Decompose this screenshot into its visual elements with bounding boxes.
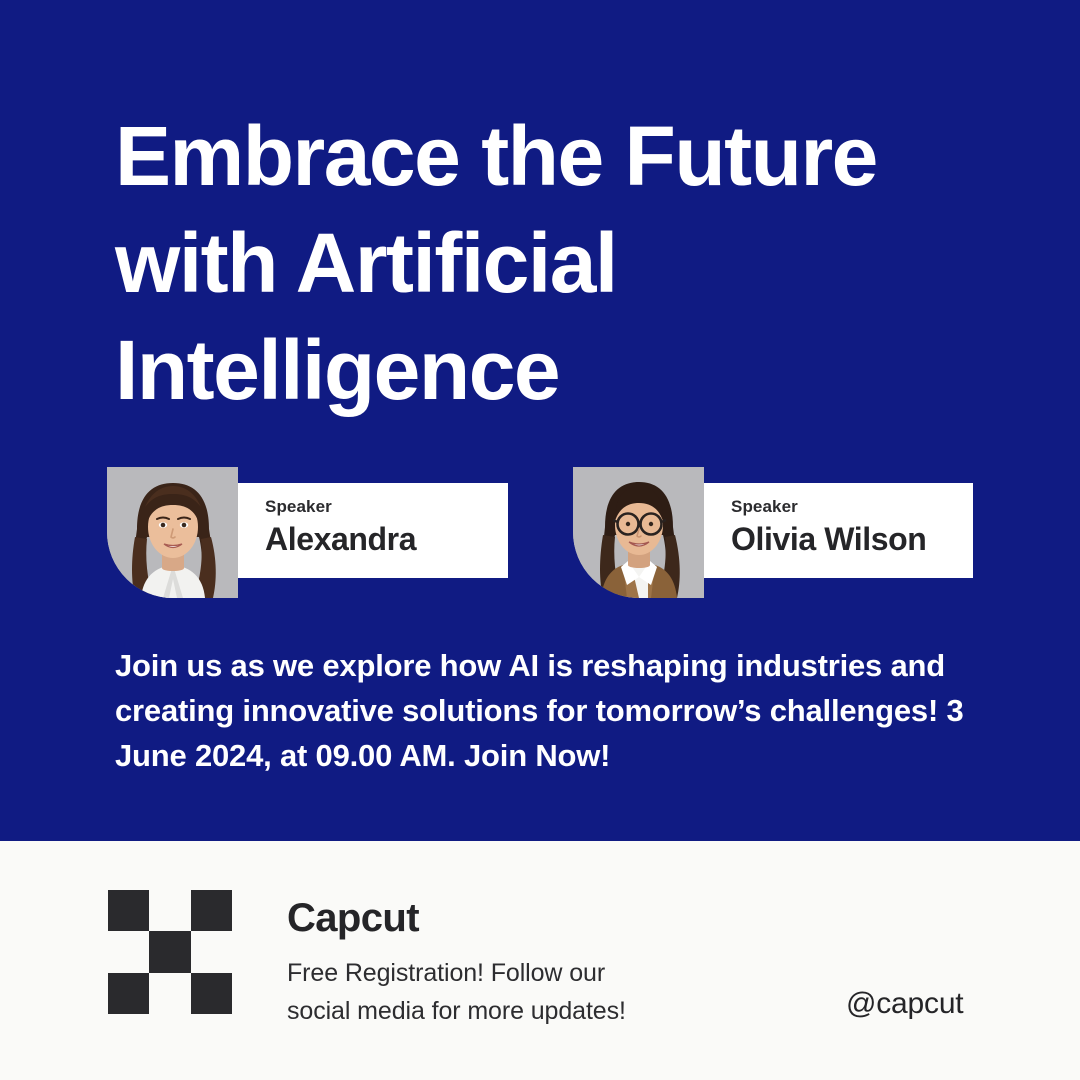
logo-cell-5 [191, 931, 232, 972]
speaker-name: Olivia Wilson [731, 519, 973, 559]
speaker-role-label: Speaker [731, 497, 973, 517]
speaker-card-2[interactable]: Speaker Olivia Wilson [573, 467, 973, 598]
event-poster: Embrace the Future with Artificial Intel… [0, 0, 1080, 1080]
checkerboard-x-icon [108, 890, 232, 1014]
hero-panel: Embrace the Future with Artificial Intel… [0, 0, 1080, 841]
logo-cell-4 [149, 931, 190, 972]
speaker-card-1[interactable]: Speaker Alexandra [107, 467, 508, 598]
speaker-label-box-1: Speaker Alexandra [238, 483, 508, 578]
speaker-name: Alexandra [265, 519, 508, 559]
logo-cell-0 [108, 890, 149, 931]
page-title: Embrace the Future with Artificial Intel… [115, 103, 995, 424]
logo-cell-2 [191, 890, 232, 931]
speaker-label-box-2: Speaker Olivia Wilson [704, 483, 973, 578]
social-handle[interactable]: @capcut [846, 985, 963, 1023]
logo-cell-7 [149, 973, 190, 1014]
speaker-role-label: Speaker [265, 497, 508, 517]
logo-cell-8 [191, 973, 232, 1014]
logo-cell-1 [149, 890, 190, 931]
logo-cell-3 [108, 931, 149, 972]
brand-name: Capcut [287, 893, 419, 943]
logo-cell-6 [108, 973, 149, 1014]
event-description: Join us as we explore how AI is reshapin… [115, 643, 995, 778]
brand-subtitle: Free Registration! Follow our social med… [287, 954, 707, 1030]
avatar-alexandra [107, 467, 238, 598]
avatar-olivia-wilson [573, 467, 704, 598]
